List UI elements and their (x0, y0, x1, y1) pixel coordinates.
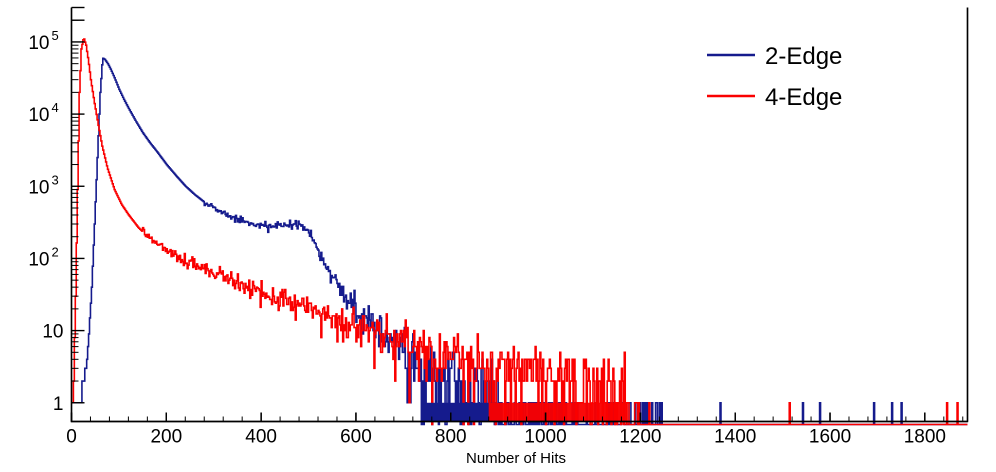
svg-text:10: 10 (28, 105, 49, 126)
x-tick-label: 200 (150, 427, 182, 448)
dense-unit-bins (425, 403, 626, 422)
x-tick-label: 1600 (809, 427, 851, 448)
legend-label: 4-Edge (765, 84, 842, 111)
y-tick-label: 10 (42, 322, 63, 343)
legend-label: 2-Edge (765, 43, 842, 70)
x-axis-title: Number of Hits (466, 450, 566, 467)
y-tick-label: 1 (53, 394, 64, 415)
svg-text:1: 1 (53, 394, 64, 415)
svg-text:10: 10 (28, 249, 49, 270)
histogram-plot: 020040060080010001200140016001800 110102… (0, 0, 996, 472)
root-plot-canvas: 020040060080010001200140016001800 110102… (0, 0, 996, 472)
svg-text:10: 10 (28, 177, 49, 198)
svg-text:4: 4 (52, 100, 59, 115)
svg-text:3: 3 (52, 172, 59, 187)
x-tick-label: 400 (245, 427, 277, 448)
svg-text:10: 10 (28, 33, 49, 54)
x-tick-label: 800 (435, 427, 467, 448)
x-tick-label: 1800 (904, 427, 946, 448)
x-tick-label: 600 (340, 427, 372, 448)
x-tick-label: 1200 (619, 427, 661, 448)
x-tick-label: 1400 (714, 427, 756, 448)
x-tick-label: 1000 (524, 427, 566, 448)
svg-text:2: 2 (52, 244, 59, 259)
svg-text:10: 10 (42, 322, 63, 343)
svg-text:5: 5 (52, 28, 59, 43)
x-tick-label: 0 (66, 427, 77, 448)
